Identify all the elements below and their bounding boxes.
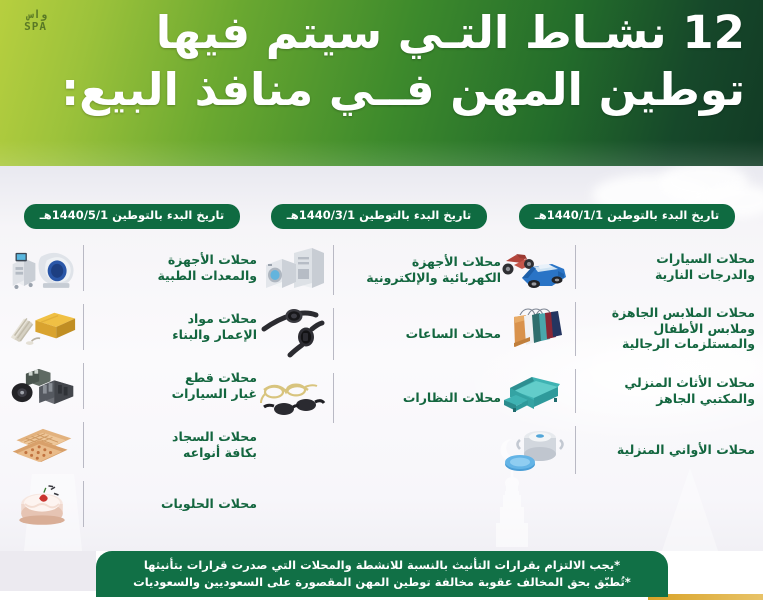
- column-1440-3-1: تاريخ البدء بالتوطين 1440/3/1هـ: [257, 204, 501, 432]
- item-divider: [83, 304, 84, 350]
- item-divider: [83, 422, 84, 468]
- activity-label: محلات الساعات: [342, 326, 501, 342]
- infographic-poster: واس SPA 12 نشـاط التـي سيتم فيها توطين ا…: [0, 0, 763, 600]
- activity-list: محلات السيارات والدرجات النارية: [499, 241, 755, 478]
- column-header-wrap: تاريخ البدء بالتوطين 1440/3/1هـ: [257, 204, 501, 229]
- activity-label: محلات قطع غيار السيارات: [92, 370, 257, 401]
- footer-note-1: *يجب الالتزام بقرارات التأنيث بالنسبة لل…: [96, 557, 668, 574]
- list-item[interactable]: محلات قطع غيار السيارات: [7, 359, 257, 413]
- activity-label: محلات الأواني المنزلية: [584, 442, 755, 458]
- footer-left-block: [0, 551, 96, 591]
- activity-label: محلات الأجهزة والمعدات الطبية: [92, 252, 257, 283]
- column-header-wrap: تاريخ البدء بالتوطين 1440/5/1هـ: [7, 204, 257, 229]
- page-title-line-1: 12 نشـاط التـي سيتم فيها: [25, 4, 745, 61]
- building-materials-icon: [7, 302, 77, 352]
- clothes-rack-icon: [499, 304, 569, 354]
- list-item[interactable]: محلات مواد الإعمار والبناء: [7, 300, 257, 354]
- list-item[interactable]: محلات الأواني المنزلية: [499, 422, 755, 478]
- activity-label: محلات مواد الإعمار والبناء: [92, 311, 257, 342]
- column-1440-5-1: تاريخ البدء بالتوطين 1440/5/1هـ: [7, 204, 257, 536]
- eyeglasses-icon: [257, 373, 327, 423]
- header-banner: واس SPA 12 نشـاط التـي سيتم فيها توطين ا…: [0, 0, 763, 166]
- list-item[interactable]: محلات الأجهزة والمعدات الطبية: [7, 241, 257, 295]
- item-divider: [333, 373, 334, 423]
- activity-label: محلات السيارات والدرجات النارية: [584, 251, 755, 282]
- page-title-line-2: توطين المهن فــي منافذ البيع:: [25, 61, 745, 118]
- content-area: تاريخ البدء بالتوطين 1440/1/1هـ: [0, 166, 763, 551]
- cloud-decoration: [660, 166, 748, 202]
- item-divider: [83, 481, 84, 527]
- list-item[interactable]: محلات السيارات والدرجات النارية: [499, 241, 755, 293]
- footer-notes: *يجب الالتزام بقرارات التأنيث بالنسبة لل…: [96, 551, 668, 597]
- list-item[interactable]: محلات الأجهزة الكهربائية والإلكترونية: [257, 241, 501, 299]
- activity-label: محلات السجاد بكافة أنواعه: [92, 429, 257, 460]
- column-1440-1-1: تاريخ البدء بالتوطين 1440/1/1هـ: [499, 204, 755, 483]
- activity-list: محلات الأجهزة الكهربائية والإلكترونية: [257, 241, 501, 427]
- car-motorcycle-icon: [499, 242, 569, 292]
- list-item[interactable]: محلات الملابس الجاهزة وملابس الأطفال وال…: [499, 298, 755, 360]
- medical-equipment-icon: [7, 243, 77, 293]
- list-item[interactable]: محلات السجاد بكافة أنواعه: [7, 418, 257, 472]
- sofa-icon: [499, 366, 569, 416]
- start-date-badge: تاريخ البدء بالتوطين 1440/1/1هـ: [519, 204, 735, 229]
- carpet-icon: [7, 420, 77, 470]
- item-divider: [83, 245, 84, 291]
- item-divider: [333, 245, 334, 295]
- watch-icon: [257, 309, 327, 359]
- item-divider: [575, 369, 576, 413]
- footer-note-2: *تُطبّق بحق المخالف عقوبة مخالفة توطين ا…: [96, 574, 668, 591]
- activity-label: محلات الملابس الجاهزة وملابس الأطفال وال…: [584, 305, 755, 352]
- activity-label: محلات الحلويات: [92, 496, 257, 512]
- kitchenware-icon: [499, 425, 569, 475]
- item-divider: [575, 245, 576, 289]
- appliances-icon: [257, 245, 327, 295]
- activity-label: محلات النظارات: [342, 390, 501, 406]
- item-divider: [575, 302, 576, 356]
- list-item[interactable]: محلات النظارات: [257, 369, 501, 427]
- item-divider: [333, 308, 334, 360]
- activity-label: محلات الأثاث المنزلي والمكتبي الجاهز: [584, 375, 755, 406]
- list-item[interactable]: محلات الساعات: [257, 304, 501, 364]
- cake-icon: [7, 479, 77, 529]
- item-divider: [575, 426, 576, 474]
- list-item[interactable]: محلات الأثاث المنزلي والمكتبي الجاهز: [499, 365, 755, 417]
- page-title: 12 نشـاط التـي سيتم فيها توطين المهن فــ…: [25, 4, 745, 118]
- activity-label: محلات الأجهزة الكهربائية والإلكترونية: [342, 254, 501, 285]
- start-date-badge: تاريخ البدء بالتوطين 1440/5/1هـ: [24, 204, 240, 229]
- item-divider: [83, 363, 84, 409]
- activity-list: محلات الأجهزة والمعدات الطبية: [7, 241, 257, 531]
- footer-right-block: [668, 551, 763, 594]
- column-header-wrap: تاريخ البدء بالتوطين 1440/1/1هـ: [499, 204, 755, 229]
- list-item[interactable]: محلات الحلويات: [7, 477, 257, 531]
- start-date-badge: تاريخ البدء بالتوطين 1440/3/1هـ: [271, 204, 487, 229]
- car-parts-icon: [7, 361, 77, 411]
